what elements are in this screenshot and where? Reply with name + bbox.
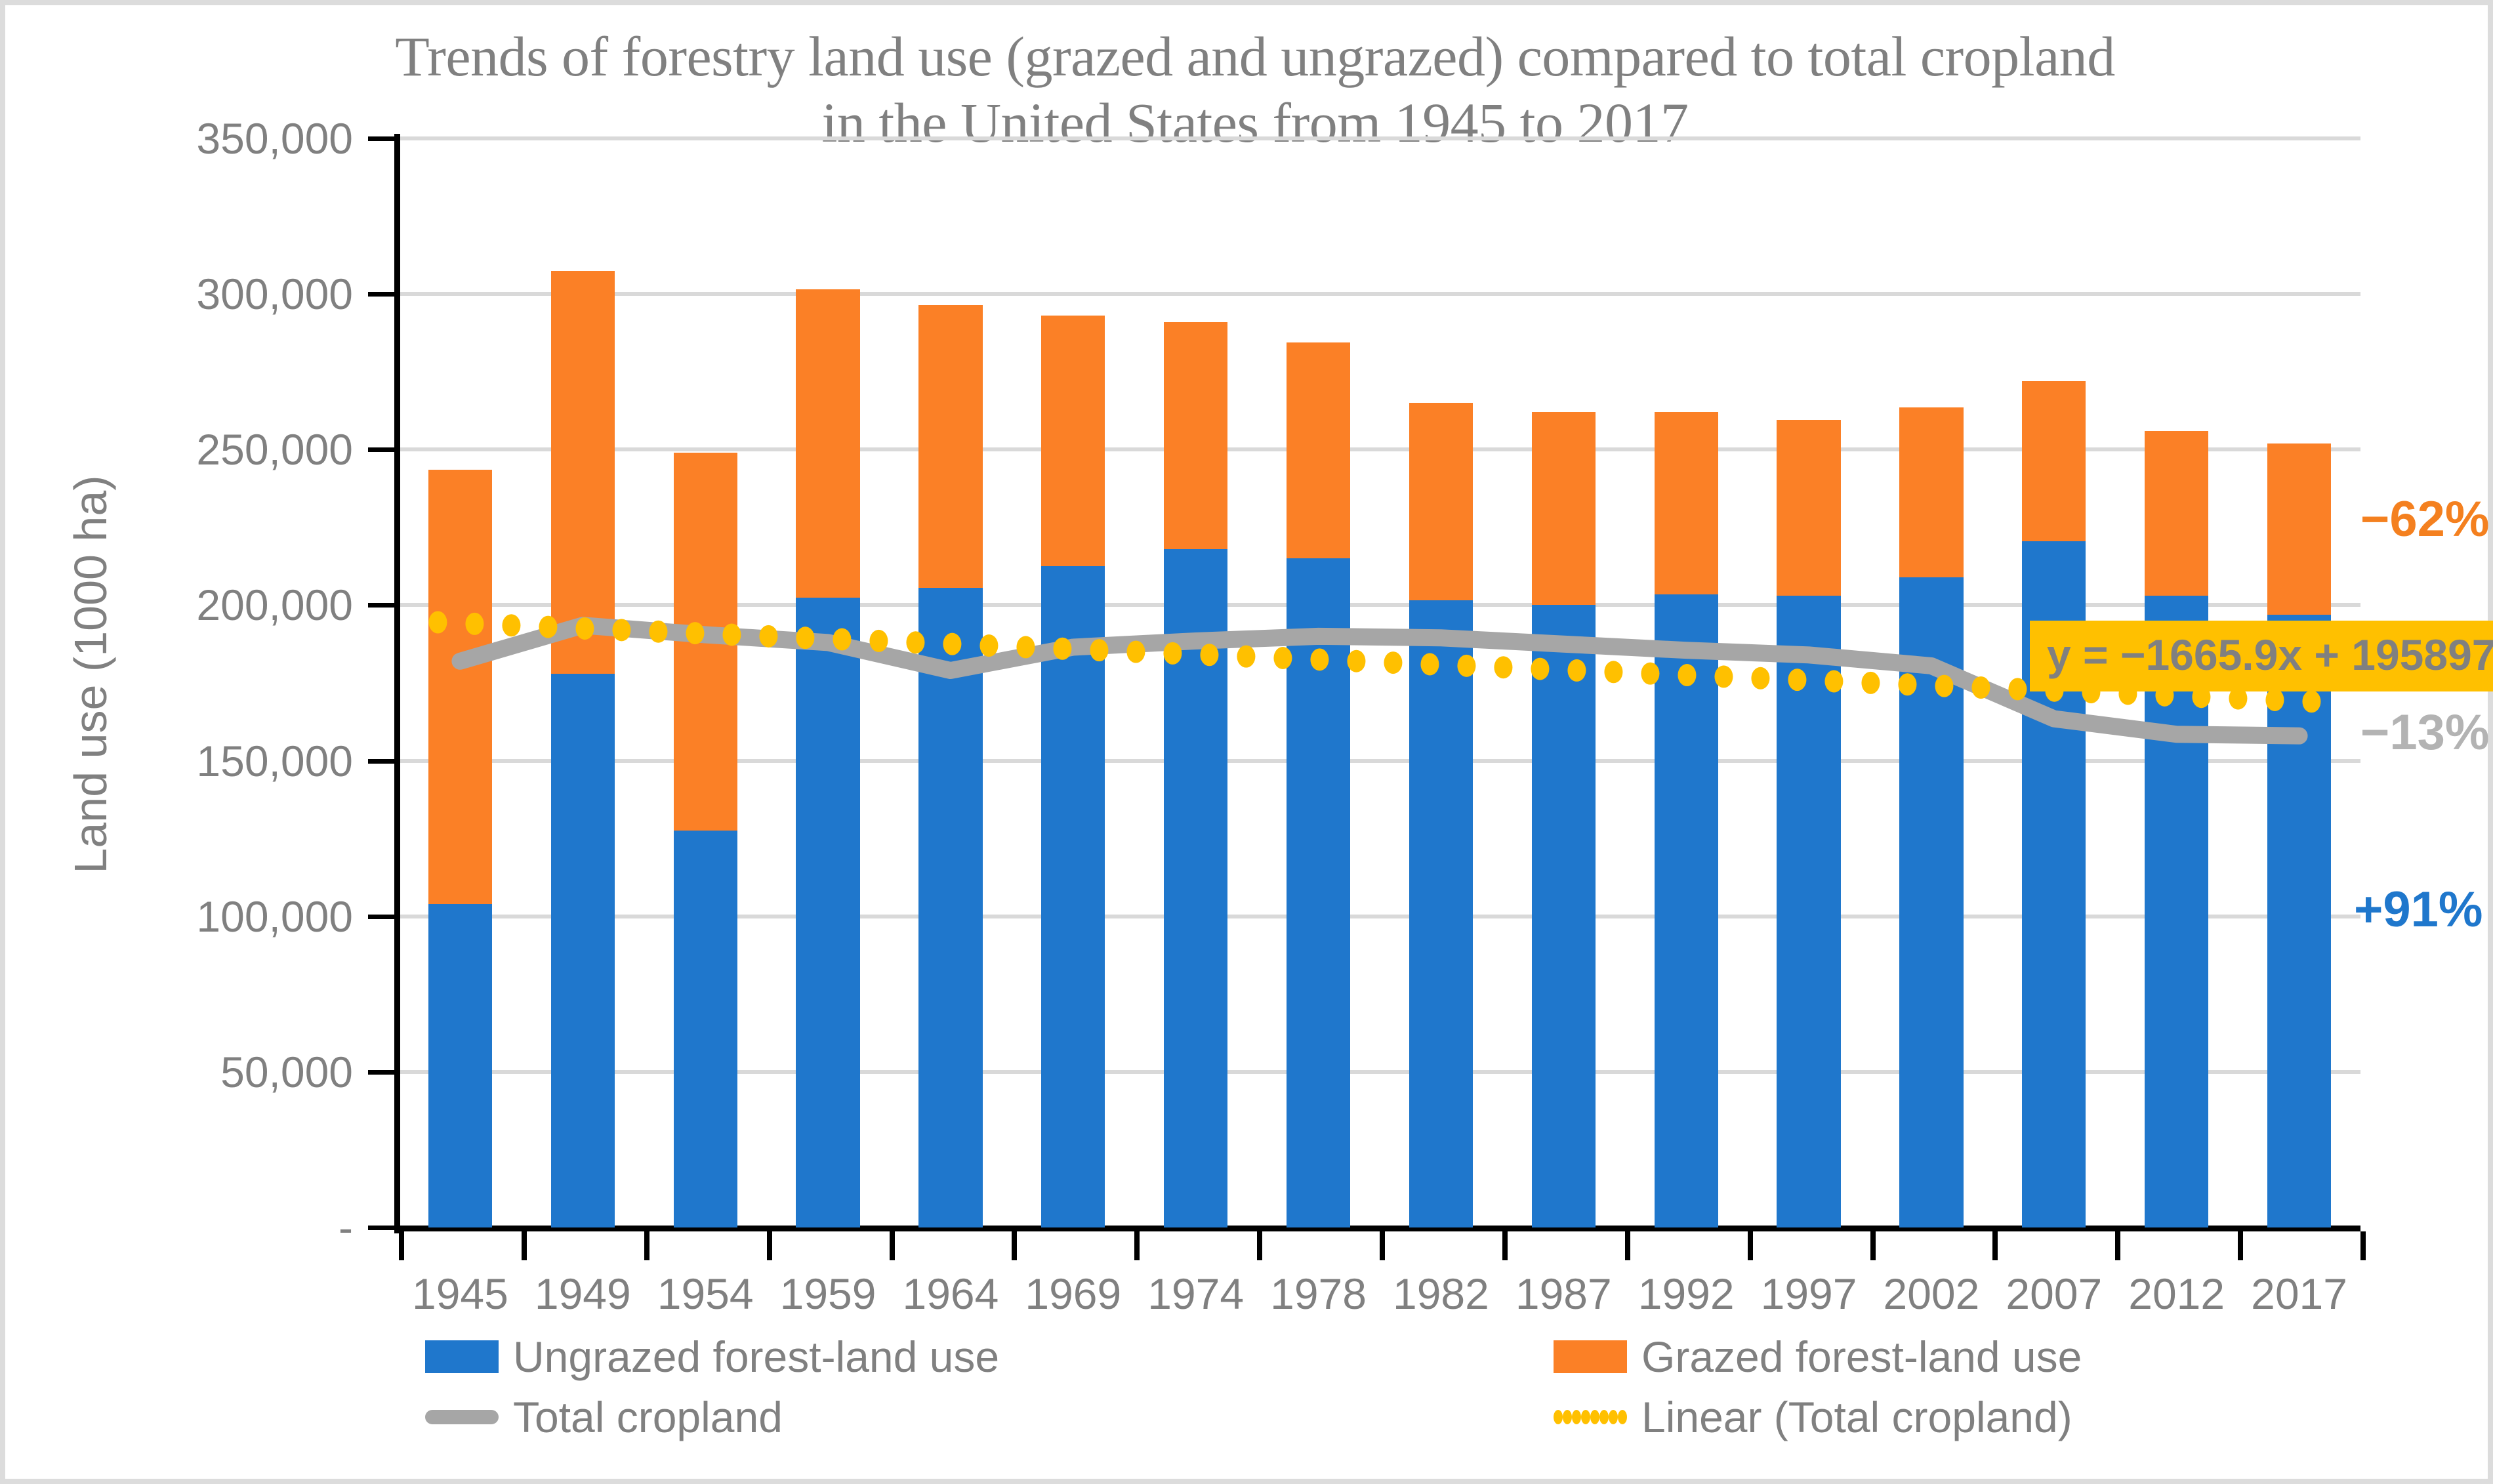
x-axis-tick: [1748, 1231, 1753, 1260]
y-axis-tick-label: -: [77, 1203, 353, 1252]
x-axis-tick: [890, 1231, 895, 1260]
x-axis-tick: [1257, 1231, 1262, 1260]
x-axis-tick-label: 1954: [657, 1269, 754, 1319]
legend-swatch-ungrazed-icon: [425, 1340, 499, 1373]
cropland-change-annotation: −13%: [2360, 704, 2490, 761]
legend-item-grazed-forest-land-use[interactable]: Grazed forest-land use: [1554, 1332, 2082, 1382]
bar-segment-grazed[interactable]: [1409, 403, 1473, 600]
x-axis-tick: [1502, 1231, 1508, 1260]
x-axis-tick-label: 1997: [1761, 1269, 1857, 1319]
bar-stack[interactable]: [1164, 138, 1227, 1227]
bar-segment-ungrazed[interactable]: [1041, 566, 1105, 1227]
bar-segment-ungrazed[interactable]: [1655, 594, 1718, 1227]
y-axis-tick-label: 150,000: [77, 736, 353, 786]
legend-swatch-trendline-dots-icon: [1554, 1409, 1627, 1426]
y-axis-tick-label: 200,000: [77, 580, 353, 630]
x-axis-tick: [2115, 1231, 2120, 1260]
bar-segment-ungrazed[interactable]: [796, 598, 859, 1227]
x-axis-tick-label: 1992: [1638, 1269, 1735, 1319]
legend-swatch-grazed-icon: [1554, 1340, 1627, 1373]
y-axis-tick-label: 100,000: [77, 892, 353, 941]
x-axis-tick-label: 1987: [1515, 1269, 1612, 1319]
bar-segment-ungrazed[interactable]: [1409, 600, 1473, 1227]
bar-stack[interactable]: [1655, 138, 1718, 1227]
x-axis-tick-label: 1945: [412, 1269, 508, 1319]
bar-segment-grazed[interactable]: [1777, 420, 1840, 596]
x-axis-tick: [399, 1231, 404, 1260]
x-axis-tick: [2238, 1231, 2243, 1260]
bar-segment-grazed[interactable]: [1532, 412, 1596, 605]
bar-segment-grazed[interactable]: [1164, 322, 1227, 549]
x-axis-tick-label: 1974: [1147, 1269, 1244, 1319]
bar-stack[interactable]: [1899, 138, 1963, 1227]
bar-segment-grazed[interactable]: [1041, 316, 1105, 566]
x-axis-tick: [644, 1231, 649, 1260]
bar-segment-grazed[interactable]: [2267, 443, 2331, 615]
chart-container: Trends of forestry land use (grazed and …: [0, 0, 2493, 1484]
bar-stack[interactable]: [428, 138, 492, 1227]
bar-stack[interactable]: [918, 138, 982, 1227]
legend-label-cropland: Total cropland: [513, 1392, 783, 1442]
x-axis-tick-label: 1978: [1270, 1269, 1367, 1319]
x-axis-tick: [1625, 1231, 1630, 1260]
bar-stack[interactable]: [1409, 138, 1473, 1227]
ungrazed-change-annotation: +91%: [2354, 881, 2483, 938]
chart-legend: Ungrazed forest-land use Grazed forest-l…: [425, 1332, 2196, 1463]
bar-segment-ungrazed[interactable]: [674, 831, 737, 1227]
x-axis-tick: [1870, 1231, 1876, 1260]
bar-segment-grazed[interactable]: [1899, 407, 1963, 577]
x-axis-tick: [1380, 1231, 1385, 1260]
x-axis-tick-label: 1969: [1025, 1269, 1121, 1319]
bar-segment-grazed[interactable]: [1287, 342, 1350, 559]
bar-stack[interactable]: [1532, 138, 1596, 1227]
legend-item-total-cropland[interactable]: Total cropland: [425, 1392, 783, 1442]
bar-segment-ungrazed[interactable]: [2267, 615, 2331, 1227]
legend-item-linear-total-cropland[interactable]: Linear (Total cropland): [1554, 1392, 2072, 1442]
x-axis-tick: [522, 1231, 527, 1260]
bar-segment-ungrazed[interactable]: [918, 588, 982, 1227]
bar-segment-ungrazed[interactable]: [428, 904, 492, 1227]
x-axis-tick-label: 2017: [2251, 1269, 2347, 1319]
y-axis-tick-label: 300,000: [77, 269, 353, 319]
bar-stack[interactable]: [1777, 138, 1840, 1227]
bar-segment-grazed[interactable]: [674, 453, 737, 831]
bar-stack[interactable]: [1287, 138, 1350, 1227]
bar-segment-ungrazed[interactable]: [1164, 549, 1227, 1227]
bar-segment-ungrazed[interactable]: [551, 674, 615, 1227]
x-axis-tick: [1992, 1231, 1998, 1260]
x-axis-tick-label: 1959: [780, 1269, 876, 1319]
legend-label-linear: Linear (Total cropland): [1641, 1392, 2072, 1442]
bar-segment-grazed[interactable]: [796, 289, 859, 598]
bar-segment-ungrazed[interactable]: [1777, 596, 1840, 1227]
legend-swatch-cropland-line-icon: [425, 1410, 499, 1424]
x-axis-tick-label: 2002: [1884, 1269, 1980, 1319]
x-axis-tick: [2360, 1231, 2366, 1260]
y-axis-tick-label: 250,000: [77, 424, 353, 474]
bar-segment-grazed[interactable]: [428, 470, 492, 904]
bar-segment-grazed[interactable]: [918, 305, 982, 588]
bar-stack[interactable]: [796, 138, 859, 1227]
bar-stack[interactable]: [551, 138, 615, 1227]
bar-segment-ungrazed[interactable]: [1899, 577, 1963, 1227]
bar-segment-ungrazed[interactable]: [1532, 605, 1596, 1227]
x-axis-tick-label: 1982: [1393, 1269, 1489, 1319]
y-axis-tick-label: 350,000: [77, 113, 353, 163]
bar-segment-grazed[interactable]: [1655, 412, 1718, 594]
legend-item-ungrazed-forest-land-use[interactable]: Ungrazed forest-land use: [425, 1332, 999, 1382]
x-axis-tick-label: 2007: [2006, 1269, 2102, 1319]
bar-segment-grazed[interactable]: [2022, 381, 2086, 541]
bar-stack[interactable]: [1041, 138, 1105, 1227]
bar-segment-grazed[interactable]: [551, 271, 615, 674]
trendline-equation-label: y = −1665.9x + 195897: [2030, 621, 2493, 691]
legend-label-ungrazed: Ungrazed forest-land use: [513, 1332, 999, 1382]
x-axis-tick: [1134, 1231, 1140, 1260]
y-axis-tick-label: 50,000: [77, 1047, 353, 1097]
bar-stack[interactable]: [674, 138, 737, 1227]
grazed-change-annotation: −62%: [2360, 491, 2490, 548]
x-axis-tick: [767, 1231, 772, 1260]
x-axis-tick-label: 1964: [903, 1269, 999, 1319]
legend-label-grazed: Grazed forest-land use: [1641, 1332, 2082, 1382]
x-axis-tick-label: 2012: [2128, 1269, 2225, 1319]
bar-segment-grazed[interactable]: [2145, 431, 2208, 596]
x-axis-tick: [1012, 1231, 1017, 1260]
x-axis-tick-label: 1949: [535, 1269, 631, 1319]
bar-segment-ungrazed[interactable]: [1287, 558, 1350, 1227]
